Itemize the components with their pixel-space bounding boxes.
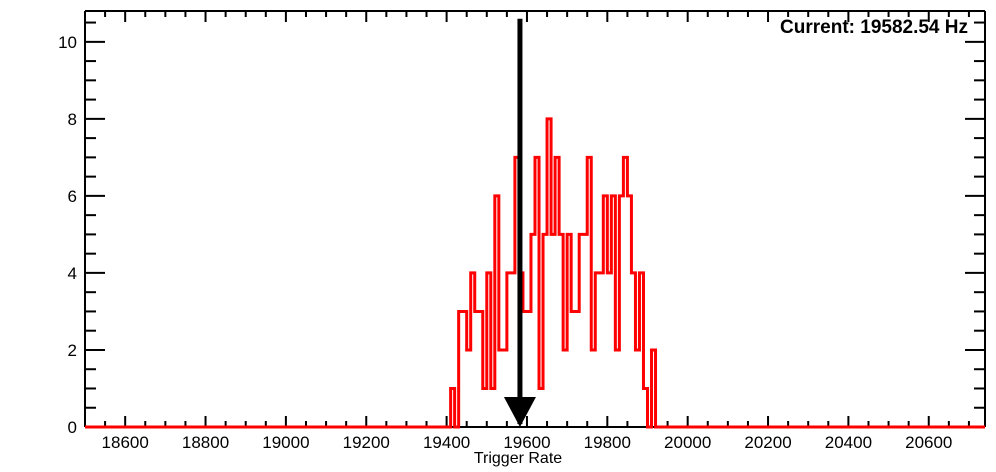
x-tick-label: 18600 — [102, 433, 149, 452]
histogram-outline — [85, 119, 985, 427]
x-tick-label: 19000 — [262, 433, 309, 452]
x-tick-label: 19400 — [423, 433, 470, 452]
histogram-canvas: 1860018800190001920019400196001980020000… — [0, 0, 996, 472]
x-tick-label: 20200 — [744, 433, 791, 452]
trigger-rate-histogram-panel: 1860018800190001920019400196001980020000… — [0, 0, 996, 472]
y-tick-label: 6 — [68, 187, 77, 206]
y-tick-label: 4 — [68, 264, 77, 283]
x-axis-ticks — [85, 11, 969, 427]
x-tick-label: 19800 — [584, 433, 631, 452]
y-tick-label: 10 — [58, 33, 77, 52]
current-value-title: Current: 19582.54 Hz — [780, 17, 968, 38]
x-tick-label: 20000 — [664, 433, 711, 452]
x-tick-label: 19200 — [343, 433, 390, 452]
y-tick-label: 0 — [68, 418, 77, 437]
x-axis-title: Trigger Rate — [474, 450, 562, 467]
x-tick-label: 18800 — [182, 433, 229, 452]
y-tick-label: 2 — [68, 341, 77, 360]
x-tick-label: 20600 — [905, 433, 952, 452]
y-tick-label: 8 — [68, 110, 77, 129]
x-tick-label: 20400 — [825, 433, 872, 452]
y-axis-tick-labels: 0246810 — [58, 33, 77, 437]
current-rate-marker — [504, 19, 536, 427]
